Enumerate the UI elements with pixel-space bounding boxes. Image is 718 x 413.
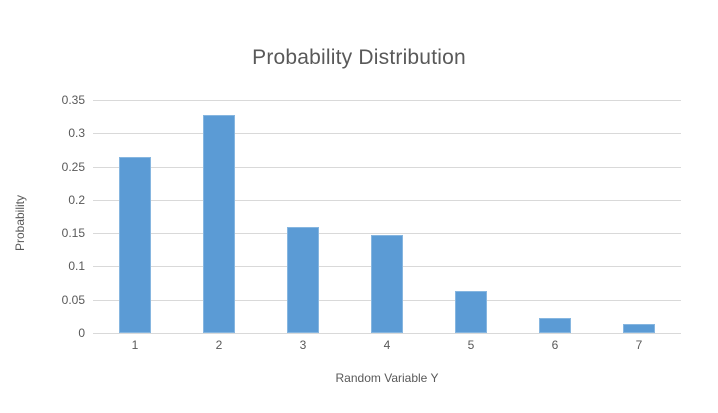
x-tick-label: 4: [357, 338, 417, 352]
bar: [539, 318, 571, 333]
y-tick-label: 0.3: [5, 126, 85, 140]
bar: [455, 291, 487, 333]
x-axis-tick-labels: 1234567: [93, 338, 681, 358]
x-tick-label: 3: [273, 338, 333, 352]
bar: [623, 324, 655, 333]
x-tick-label: 2: [189, 338, 249, 352]
x-tick-label: 7: [609, 338, 669, 352]
gridline: [93, 167, 681, 168]
y-tick-label: 0.15: [5, 226, 85, 240]
x-tick-label: 1: [105, 338, 165, 352]
bar: [287, 227, 319, 334]
gridline: [93, 200, 681, 201]
x-axis-title: Random Variable Y: [93, 371, 681, 385]
chart-title: Probability Distribution: [0, 46, 718, 70]
y-tick-label: 0.2: [5, 193, 85, 207]
gridline: [93, 100, 681, 101]
x-axis-line: [93, 333, 681, 334]
gridline: [93, 233, 681, 234]
gridline: [93, 133, 681, 134]
x-tick-label: 5: [441, 338, 501, 352]
y-tick-label: 0: [5, 326, 85, 340]
bar: [371, 235, 403, 333]
bar: [119, 157, 151, 333]
bar: [203, 115, 235, 333]
y-tick-label: 0.35: [5, 93, 85, 107]
y-tick-label: 0.05: [5, 293, 85, 307]
plot-area: [93, 100, 681, 333]
y-tick-label: 0.1: [5, 259, 85, 273]
chart-container: Probability Distribution Probability 00.…: [0, 0, 718, 413]
x-tick-label: 6: [525, 338, 585, 352]
y-tick-label: 0.25: [5, 160, 85, 174]
y-axis-tick-labels: 00.050.10.150.20.250.30.35: [0, 100, 85, 333]
